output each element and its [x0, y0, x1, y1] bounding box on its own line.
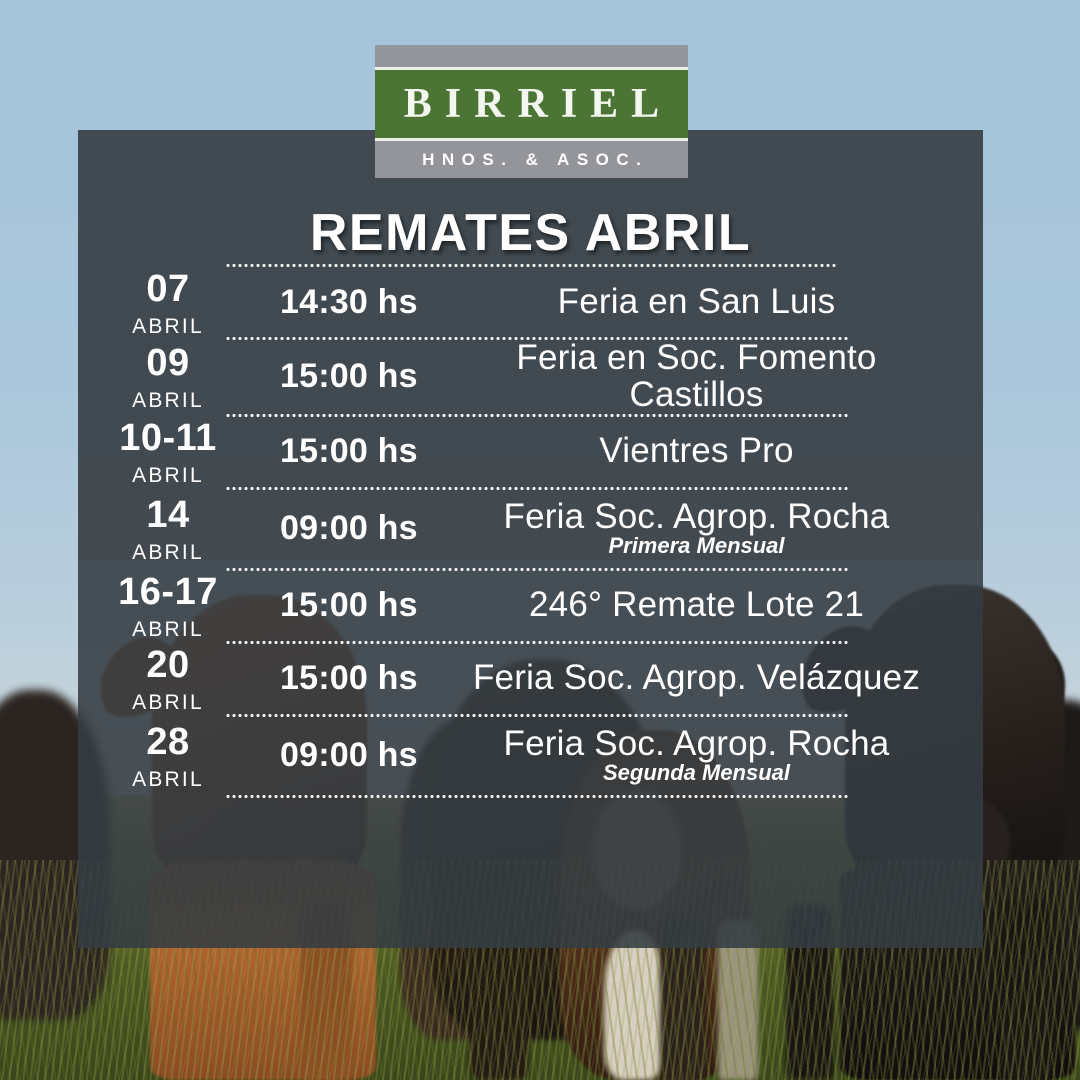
- date-cell: 10-11 ABRIL: [78, 417, 258, 486]
- event-cell: Feria en San Luis: [458, 284, 983, 321]
- event-title: Feria en San Luis: [458, 284, 935, 321]
- logo-top-bar: [375, 45, 688, 67]
- event-title: Feria Soc. Agrop. Rocha: [458, 726, 935, 763]
- separator-bottom: [225, 795, 848, 798]
- poster: BIRRIEL HNOS. & ASOC. REMATES ABRIL 07 A…: [0, 0, 1080, 1080]
- schedule-row: 20 ABRIL 15:00 hs Feria Soc. Agrop. Velá…: [78, 644, 983, 714]
- schedule-row: 09 ABRIL 15:00 hs Feria en Soc. Fomento …: [78, 340, 983, 414]
- event-title: 246° Remate Lote 21: [458, 587, 935, 624]
- schedule-row: 16-17 ABRIL 15:00 hs 246° Remate Lote 21: [78, 571, 983, 641]
- schedule-row: 28 ABRIL 09:00 hs Feria Soc. Agrop. Roch…: [78, 717, 983, 795]
- event-cell: Feria Soc. Agrop. Rocha Segunda Mensual: [458, 726, 983, 786]
- event-cell: Vientres Pro: [458, 433, 983, 470]
- date-cell: 28 ABRIL: [78, 721, 258, 790]
- date-cell: 20 ABRIL: [78, 644, 258, 713]
- date-month: ABRIL: [78, 465, 258, 486]
- date-day: 16-17: [78, 573, 258, 611]
- time-cell: 14:30 hs: [258, 283, 458, 322]
- date-month: ABRIL: [78, 692, 258, 713]
- time-cell: 15:00 hs: [258, 659, 458, 698]
- date-month: ABRIL: [78, 542, 258, 563]
- event-note: Segunda Mensual: [458, 761, 935, 785]
- date-day: 07: [78, 270, 258, 308]
- event-title: Feria en Soc. Fomento Castillos: [458, 340, 935, 414]
- date-day: 14: [78, 496, 258, 534]
- date-month: ABRIL: [78, 769, 258, 790]
- date-month: ABRIL: [78, 316, 258, 337]
- brand-logo: BIRRIEL HNOS. & ASOC.: [375, 45, 688, 178]
- event-note: Primera Mensual: [458, 534, 935, 558]
- date-day: 20: [78, 646, 258, 684]
- event-title: Feria Soc. Agrop. Rocha: [458, 499, 935, 536]
- date-cell: 07 ABRIL: [78, 268, 258, 337]
- event-title: Feria Soc. Agrop. Velázquez: [458, 660, 935, 697]
- date-cell: 16-17 ABRIL: [78, 571, 258, 640]
- schedule-list: 07 ABRIL 14:30 hs Feria en San Luis 09 A…: [78, 264, 983, 798]
- logo-bottom-bar: HNOS. & ASOC.: [375, 141, 688, 178]
- event-cell: 246° Remate Lote 21: [458, 587, 983, 624]
- date-cell: 14 ABRIL: [78, 494, 258, 563]
- time-cell: 15:00 hs: [258, 432, 458, 471]
- date-day: 10-11: [78, 419, 258, 457]
- schedule-row: 10-11 ABRIL 15:00 hs Vientres Pro: [78, 417, 983, 487]
- time-cell: 15:00 hs: [258, 357, 458, 396]
- date-month: ABRIL: [78, 390, 258, 411]
- schedule-row: 14 ABRIL 09:00 hs Feria Soc. Agrop. Roch…: [78, 490, 983, 568]
- date-day: 09: [78, 344, 258, 382]
- date-cell: 09 ABRIL: [78, 342, 258, 411]
- brand-subtitle: HNOS. & ASOC.: [415, 151, 649, 168]
- time-cell: 09:00 hs: [258, 509, 458, 548]
- date-month: ABRIL: [78, 619, 258, 640]
- date-day: 28: [78, 723, 258, 761]
- time-cell: 09:00 hs: [258, 736, 458, 775]
- brand-name: BIRRIEL: [391, 83, 672, 125]
- page-title: REMATES ABRIL: [78, 203, 983, 263]
- time-cell: 15:00 hs: [258, 586, 458, 625]
- logo-green-block: BIRRIEL: [375, 70, 688, 138]
- event-cell: Feria en Soc. Fomento Castillos: [458, 340, 983, 414]
- event-cell: Feria Soc. Agrop. Rocha Primera Mensual: [458, 499, 983, 559]
- event-cell: Feria Soc. Agrop. Velázquez: [458, 660, 983, 697]
- event-title: Vientres Pro: [458, 433, 935, 470]
- schedule-row: 07 ABRIL 14:30 hs Feria en San Luis: [78, 267, 983, 337]
